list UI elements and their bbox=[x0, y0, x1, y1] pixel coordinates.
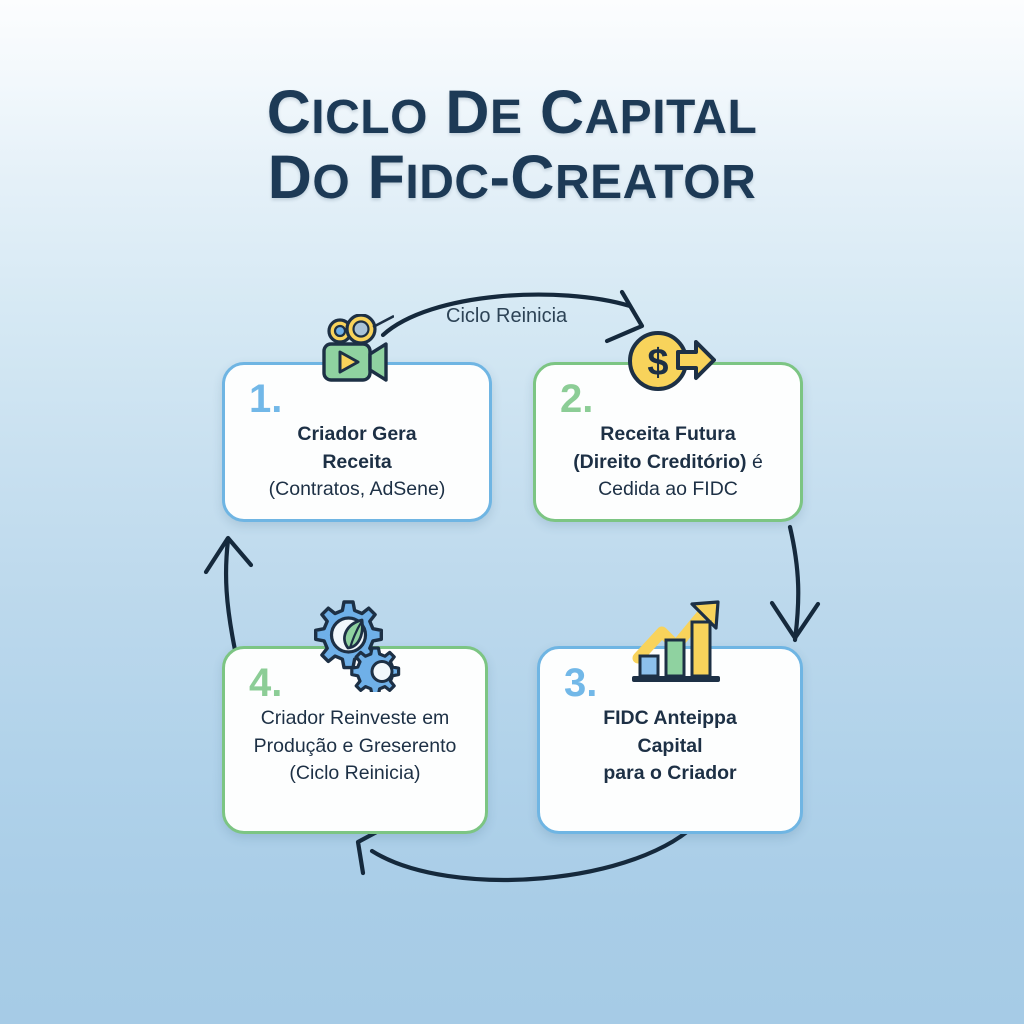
growth-chart-icon bbox=[624, 596, 728, 686]
cycle-step-2-number: 2. bbox=[560, 379, 593, 419]
cycle-step-4-line-2: Produção e Greserento bbox=[254, 735, 457, 757]
cycle-step-2-line-2-bold: (Direito Creditório) bbox=[573, 451, 746, 473]
cycle-step-2-line-3: Cedida ao FIDC bbox=[598, 478, 738, 500]
cycle-step-2-line-2-rest: é bbox=[747, 451, 763, 473]
cycle-step-4-line-3: (Ciclo Reinicia) bbox=[289, 762, 420, 784]
video-camera-icon bbox=[316, 314, 394, 386]
cycle-step-3-number: 3. bbox=[564, 663, 597, 703]
cycle-diagram: 1. Criador Gera Receita (Contratos, AdSe… bbox=[0, 0, 1024, 1024]
cycle-step-4-number: 4. bbox=[249, 663, 282, 703]
cycle-step-1-line-3: (Contratos, AdSene) bbox=[269, 478, 446, 500]
cycle-step-1-card[interactable]: 1. Criador Gera Receita (Contratos, AdSe… bbox=[222, 362, 492, 522]
gears-leaf-icon bbox=[306, 598, 406, 692]
cycle-step-1-line-2: Receita bbox=[322, 451, 391, 473]
cycle-step-4-line-1: Criador Reinveste em bbox=[261, 707, 450, 729]
cycle-step-3-line-1: FIDC Anteippa bbox=[603, 707, 737, 729]
money-transfer-icon: $ bbox=[626, 330, 716, 392]
cycle-step-3-line-3: para o Criador bbox=[603, 762, 736, 784]
cycle-step-3-text: FIDC Anteippa Capital para o Criador bbox=[589, 705, 751, 788]
svg-text:$: $ bbox=[647, 342, 668, 384]
cycle-step-1-text: Criador Gera Receita (Contratos, AdSene) bbox=[255, 421, 460, 504]
cycle-step-1-line-1: Criador Gera bbox=[297, 423, 416, 445]
cycle-step-2-line-1: Receita Futura bbox=[600, 423, 735, 445]
cycle-step-3-line-2: Capital bbox=[637, 735, 702, 757]
cycle-step-1-number: 1. bbox=[249, 379, 282, 419]
cycle-step-2-text: Receita Futura (Direito Creditório) é Ce… bbox=[559, 421, 777, 504]
cycle-step-4-text: Criador Reinveste em Produção e Greseren… bbox=[240, 705, 471, 788]
